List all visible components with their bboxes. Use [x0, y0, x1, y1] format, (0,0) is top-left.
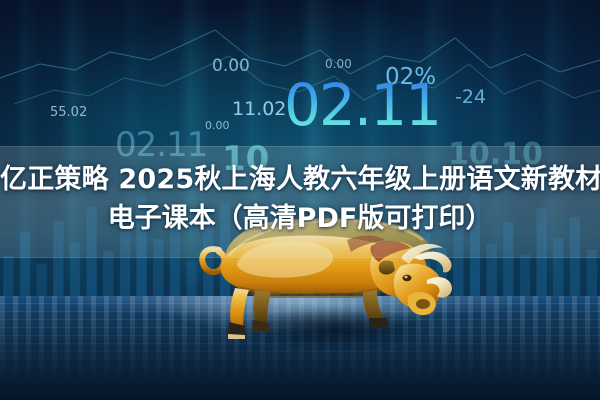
floating-number-n-24: -24: [455, 88, 486, 107]
floating-number-n-0c: 0.00: [325, 58, 352, 70]
floating-number-n-1102: 11.02: [232, 100, 286, 119]
title-line-2: 电子课本（高清PDF版可打印）: [0, 199, 600, 238]
banner-image: 0.0055.0211.020.000.0002%-2402.111010.10…: [0, 0, 600, 400]
floating-number-n-5502: 55.02: [50, 106, 87, 119]
floating-number-n-0b: 0.00: [205, 120, 230, 131]
floating-number-n-big: 02.11: [284, 76, 440, 134]
floating-number-n-0a: 0.00: [212, 58, 250, 75]
title-block: 亿正策略 2025秋上海人教六年级上册语文新教材 电子课本（高清PDF版可打印）: [0, 160, 600, 238]
title-line-1: 亿正策略 2025秋上海人教六年级上册语文新教材: [0, 160, 600, 199]
